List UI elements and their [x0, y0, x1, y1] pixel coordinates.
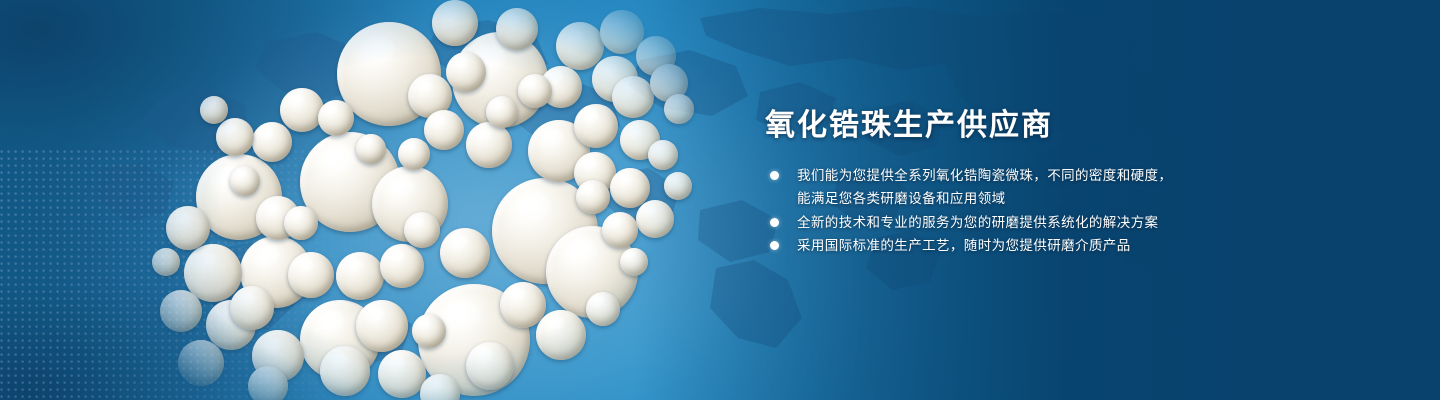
bullet-dot-icon	[770, 171, 779, 180]
list-item-line-1: 我们能为您提供全系列氧化锆陶瓷微珠，不同的密度和硬度，	[797, 168, 1172, 183]
zirconia-beads-image	[0, 0, 760, 400]
bullet-dot-icon	[770, 218, 779, 227]
bullet-dot-icon	[770, 241, 779, 250]
list-item: 我们能为您提供全系列氧化锆陶瓷微珠，不同的密度和硬度， 能满足您各类研磨设备和应…	[765, 164, 1365, 210]
page-title: 氧化锆珠生产供应商	[765, 108, 1365, 143]
feature-list: 我们能为您提供全系列氧化锆陶瓷微珠，不同的密度和硬度， 能满足您各类研磨设备和应…	[765, 164, 1365, 257]
list-item-line-2: 能满足您各类研磨设备和应用领域	[797, 187, 1365, 210]
list-item: 全新的技术和专业的服务为您的研磨提供系统化的解决方案	[765, 211, 1365, 234]
list-item-line-1: 采用国际标准的生产工艺，随时为您提供研磨介质产品	[797, 238, 1131, 253]
banner-copy: 氧化锆珠生产供应商 我们能为您提供全系列氧化锆陶瓷微珠，不同的密度和硬度， 能满…	[765, 108, 1365, 258]
hero-banner: 氧化锆珠生产供应商 我们能为您提供全系列氧化锆陶瓷微珠，不同的密度和硬度， 能满…	[0, 0, 1440, 400]
list-item: 采用国际标准的生产工艺，随时为您提供研磨介质产品	[765, 234, 1365, 257]
list-item-line-1: 全新的技术和专业的服务为您的研磨提供系统化的解决方案	[797, 215, 1158, 230]
